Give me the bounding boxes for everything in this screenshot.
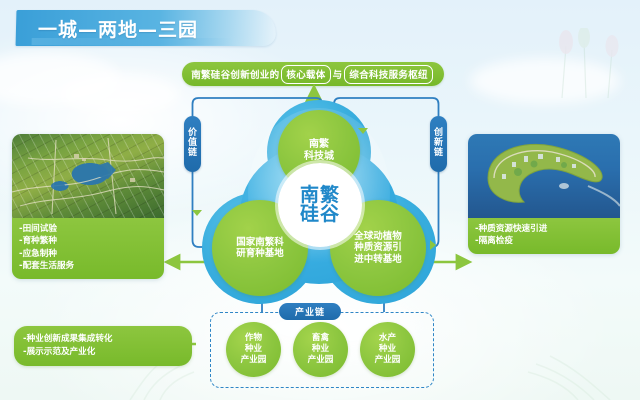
plant-watermark-icon xyxy=(540,28,636,98)
right-photo-card[interactable]: -种质资源快速引进 -隔离检疫 xyxy=(468,134,620,254)
caption-line: -应急制种 xyxy=(19,248,157,260)
park-text-line: 水产 xyxy=(375,333,401,344)
park-text-line: 产业园 xyxy=(241,355,267,366)
node-text-line: 研育种基地 xyxy=(236,248,284,259)
park-aquaculture-seed-industry[interactable]: 水产 种业 产业园 xyxy=(360,322,415,377)
page-title: 一城—两地—三园 xyxy=(38,15,272,42)
industry-chain-label: 产业链 xyxy=(279,303,341,320)
bottom-left-note[interactable]: -种业创新成果集成转化 -展示示范及产业化 xyxy=(14,326,192,366)
caption-line: -隔离检疫 xyxy=(475,235,613,247)
core-statement-highlight-1: 核心载体 xyxy=(281,65,330,84)
park-text-line: 种业 xyxy=(308,344,334,355)
node-text-line: 南繁 xyxy=(304,139,334,151)
node-text-line: 全球动植物 xyxy=(354,231,402,242)
park-text-line: 产业园 xyxy=(308,355,334,366)
node-text-line: 科技城 xyxy=(304,151,334,163)
core-statement-prefix: 南繁硅谷创新创业的 xyxy=(191,67,279,81)
triangle-accent-icon xyxy=(430,240,436,250)
left-photo-card[interactable]: -田间试验 -育种繁种 -应急制种 -配套生活服务 xyxy=(12,134,164,279)
caption-line: -育种繁种 xyxy=(19,235,157,247)
note-line: -展示示范及产业化 xyxy=(23,346,183,359)
park-text-line: 畜禽 xyxy=(308,333,334,344)
core-statement-highlight-2: 综合科技服务枢纽 xyxy=(344,65,432,84)
node-text-line: 种质资源引 xyxy=(354,242,402,253)
core-statement-pill: 南繁硅谷创新创业的 核心载体 与 综合科技服务枢纽 xyxy=(182,62,444,86)
caption-line: -种质资源快速引进 xyxy=(475,223,613,235)
park-livestock-poultry-seed-industry[interactable]: 畜禽 种业 产业园 xyxy=(293,322,348,377)
caption-line: -配套生活服务 xyxy=(19,260,157,272)
trefoil-hub-diagram: 南繁 科技城 国家南繁科 研育种基地 全球动植物 种质资源引 进中转基地 南繁 … xyxy=(196,100,442,305)
cloud-decoration xyxy=(60,74,180,114)
park-crop-seed-industry[interactable]: 作物 种业 产业园 xyxy=(226,322,281,377)
node-text-line: 进中转基地 xyxy=(354,254,402,265)
crescent-island-photo xyxy=(468,134,620,218)
core-statement-conjunction: 与 xyxy=(333,67,343,81)
aerial-farmland-photo xyxy=(12,134,164,218)
right-card-caption: -种质资源快速引进 -隔离检疫 xyxy=(468,218,620,254)
infographic-canvas: 一城—两地—三园 南繁硅谷创新创业的 核心载体 与 综合科技服务枢纽 xyxy=(0,0,640,400)
park-text-line: 种业 xyxy=(241,344,267,355)
island-shape xyxy=(468,134,620,218)
node-text-line: 国家南繁科 xyxy=(236,237,284,248)
park-text-line: 作物 xyxy=(241,333,267,344)
park-text-line: 种业 xyxy=(375,344,401,355)
triangle-accent-icon xyxy=(192,210,202,216)
note-line: -种业创新成果集成转化 xyxy=(23,333,183,346)
park-text-line: 产业园 xyxy=(375,355,401,366)
grass-watermark-icon xyxy=(470,340,620,400)
center-text-line: 硅谷 xyxy=(300,205,340,224)
caption-line: -田间试验 xyxy=(19,223,157,235)
center-nanfan-silicon-valley[interactable]: 南繁 硅谷 xyxy=(278,163,362,247)
title-banner: 一城—两地—三园 xyxy=(16,10,276,46)
farmland-paths xyxy=(12,134,164,218)
left-card-caption: -田间试验 -育种繁种 -应急制种 -配套生活服务 xyxy=(12,218,164,279)
triangle-accent-icon xyxy=(358,128,368,134)
industry-chain-text: 产业链 xyxy=(295,305,325,318)
